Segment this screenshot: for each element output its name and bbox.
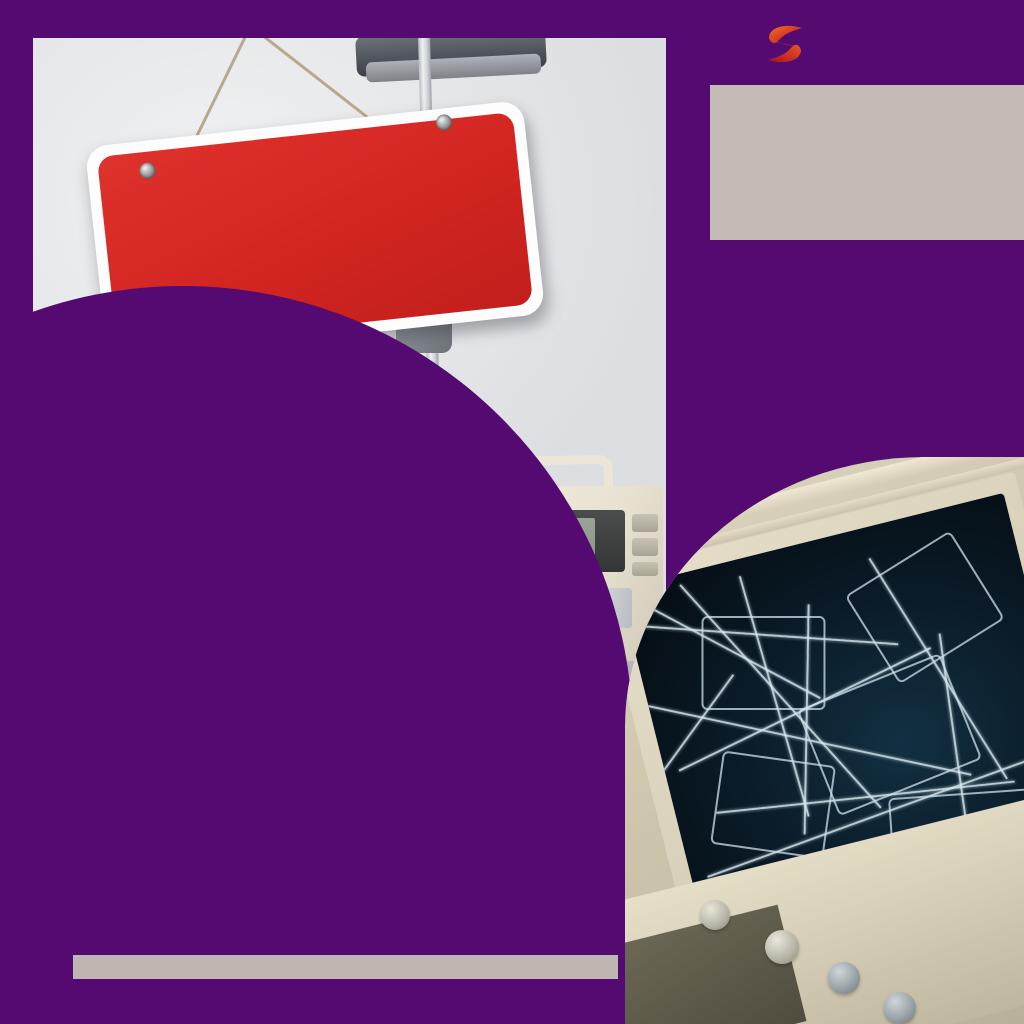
glass-shard (710, 750, 836, 859)
glass-shard (701, 616, 825, 710)
device-round-button-a (700, 900, 730, 930)
cracked-screen-photo (625, 457, 1024, 1024)
brand-logo[interactable] (762, 18, 822, 70)
device-round-button-b (765, 930, 799, 964)
grey-accent-bar-top (710, 85, 1024, 240)
glass-shard (845, 530, 1005, 684)
sariva-s-mark-icon (762, 21, 808, 67)
device-round-button-d (884, 992, 916, 1024)
grey-accent-bar-bottom (73, 955, 618, 979)
obsolete-sign-photo (33, 38, 666, 686)
social-post-canvas (0, 0, 1024, 1024)
device-round-button-c (828, 962, 860, 994)
